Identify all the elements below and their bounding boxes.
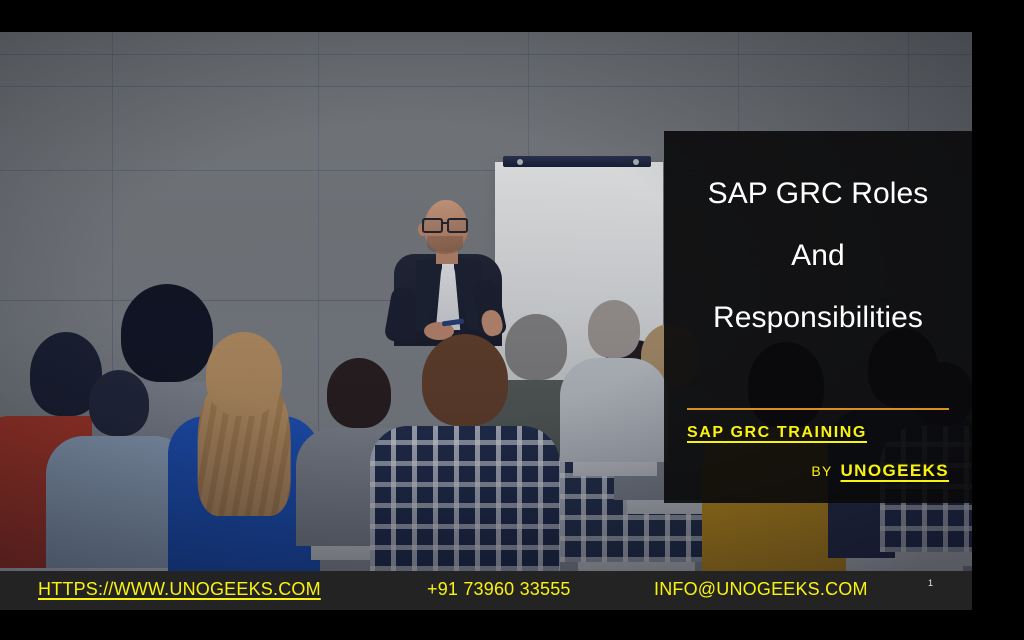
attendee-plaid-blue xyxy=(370,334,560,571)
footer-bar: HTTPS://WWW.UNOGEEKS.COM +91 73960 33555… xyxy=(0,571,972,610)
glasses-lens-right xyxy=(447,218,468,233)
footer-email-address: INFO@UNOGEEKS.COM xyxy=(654,579,868,600)
attendee-white-blazer xyxy=(560,300,668,462)
wall-line-horizontal-0 xyxy=(0,54,972,55)
footer-website-link[interactable]: HTTPS://WWW.UNOGEEKS.COM xyxy=(38,579,321,600)
subtitle-divider-rule xyxy=(687,408,949,410)
attendee-torso xyxy=(560,358,668,462)
title-line-1: SAP GRC Roles xyxy=(680,179,956,209)
glasses-lens-left xyxy=(422,218,443,233)
brand-name-label: UNOGEEKS xyxy=(841,461,950,480)
flipchart-top-rail xyxy=(503,156,651,167)
flipchart-screw-right xyxy=(633,159,639,165)
attendee-head xyxy=(588,300,640,358)
course-name-label: SAP GRC TRAINING xyxy=(680,424,956,442)
presentation-slide: SAP GRC Roles And Responsibilities SAP G… xyxy=(0,0,1024,640)
subtitle-block: SAP GRC TRAINING BYUNOGEEKS xyxy=(680,408,956,481)
wall-line-horizontal-1 xyxy=(0,86,972,87)
attendee-head xyxy=(89,370,149,436)
flipchart-screw-left xyxy=(517,159,523,165)
attendee-torso xyxy=(370,426,560,571)
slide-title: SAP GRC Roles And Responsibilities xyxy=(680,179,956,365)
presenter-glasses-icon xyxy=(422,218,470,229)
presenter-beard xyxy=(427,236,463,254)
title-line-2: And xyxy=(680,241,956,271)
byline-prefix: BY xyxy=(811,463,832,479)
title-panel: SAP GRC Roles And Responsibilities SAP G… xyxy=(664,131,972,503)
byline: BYUNOGEEKS xyxy=(680,461,956,481)
title-line-3: Responsibilities xyxy=(680,303,956,333)
attendee-head xyxy=(206,332,282,416)
footer-phone-number: +91 73960 33555 xyxy=(427,579,571,600)
attendee-head xyxy=(422,334,508,426)
slide-page-number: 1 xyxy=(928,578,933,588)
